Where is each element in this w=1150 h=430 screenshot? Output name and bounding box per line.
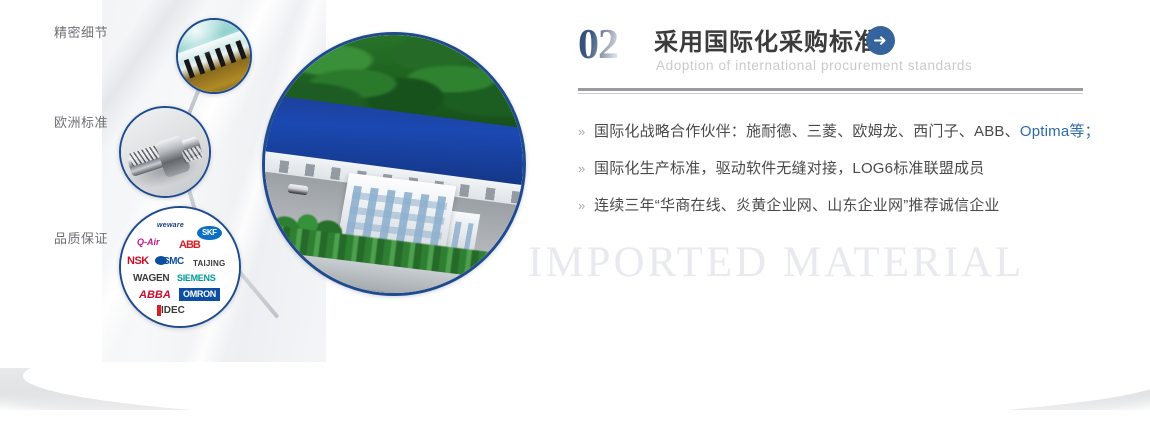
section-number: 02: [578, 24, 618, 66]
content-column: 02 采用国际化采购标准 Adoption of international p…: [578, 22, 1090, 84]
logo-smc: SMC: [163, 257, 184, 267]
list-item: » 国际化生产标准，驱动软件无缝对接，LOG6标准联盟成员: [578, 159, 1090, 179]
section-subtitle: Adoption of international procurement st…: [656, 58, 972, 73]
list-item-text-main: 国际化生产标准，驱动软件无缝对接，LOG6标准联盟成员: [594, 160, 984, 177]
label-quality-guarantee: 品质保证: [18, 228, 108, 247]
bottom-curve-shadow: [0, 368, 1150, 410]
gear-detail-photo: [176, 18, 252, 94]
list-item-text-main: 国际化战略合作伙伴：施耐德、三菱、欧姆龙、西门子、ABB、: [594, 123, 1020, 140]
label-precision-detail: 精密细节: [18, 22, 108, 41]
logo-q-air: Q-Air: [137, 238, 160, 247]
logo-omron: OMRON: [179, 288, 220, 301]
logo-siemens: SIEMENS: [177, 274, 215, 283]
ball-screw-photo: [119, 106, 211, 198]
promo-banner: 精密细节 欧洲标准 品质保证 weware SKF Q-Air ABB NSK …: [0, 0, 1150, 430]
header-divider: [578, 88, 1083, 94]
divider-thick-line: [578, 88, 1083, 91]
logo-nsk: NSK: [127, 256, 149, 267]
chevron-bullet-icon: »: [578, 196, 594, 216]
list-item-text: 国际化战略合作伙伴：施耐德、三菱、欧姆龙、西门子、ABB、Optima等；: [594, 122, 1100, 142]
factory-photo: [262, 32, 526, 296]
gear-shine: [176, 18, 228, 63]
logo-abb: ABB: [179, 240, 200, 251]
logo-wagen: WAGEN: [133, 274, 169, 284]
watermark-text: IMPORTED MATERIAL: [528, 238, 1024, 287]
list-item: » 连续三年“华商在线、炎黄企业网、山东企业网”推荐诚信企业: [578, 196, 1090, 216]
list-item-highlight: Optima等；: [1020, 123, 1100, 140]
logo-weware: weware: [157, 222, 184, 229]
page-title: 采用国际化采购标准: [654, 22, 879, 57]
bullet-list: » 国际化战略合作伙伴：施耐德、三菱、欧姆龙、西门子、ABB、Optima等； …: [578, 122, 1090, 233]
arrow-right-icon[interactable]: [866, 26, 895, 55]
list-item-text: 国际化生产标准，驱动软件无缝对接，LOG6标准联盟成员: [594, 159, 984, 179]
list-item-text: 连续三年“华商在线、炎黄企业网、山东企业网”推荐诚信企业: [594, 196, 1000, 216]
logos-inner: weware SKF Q-Air ABB NSK SMC TAIJING WAG…: [121, 208, 239, 326]
logo-idec: IDEC: [161, 306, 185, 316]
section-header: 02 采用国际化采购标准 Adoption of international p…: [578, 22, 1090, 84]
list-item: » 国际化战略合作伙伴：施耐德、三菱、欧姆龙、西门子、ABB、Optima等；: [578, 122, 1090, 142]
chevron-bullet-icon: »: [578, 122, 594, 142]
logo-abba: ABBA: [139, 290, 171, 301]
chevron-bullet-icon: »: [578, 159, 594, 179]
brand-logos-collage: weware SKF Q-Air ABB NSK SMC TAIJING WAG…: [119, 206, 241, 328]
divider-thin-line: [578, 93, 1083, 94]
list-item-text-main: 连续三年“华商在线、炎黄企业网、山东企业网”推荐诚信企业: [594, 197, 1000, 214]
logo-skf: SKF: [197, 226, 222, 240]
logo-taijing: TAIJING: [193, 260, 225, 268]
label-european-standard: 欧洲标准: [18, 112, 108, 131]
